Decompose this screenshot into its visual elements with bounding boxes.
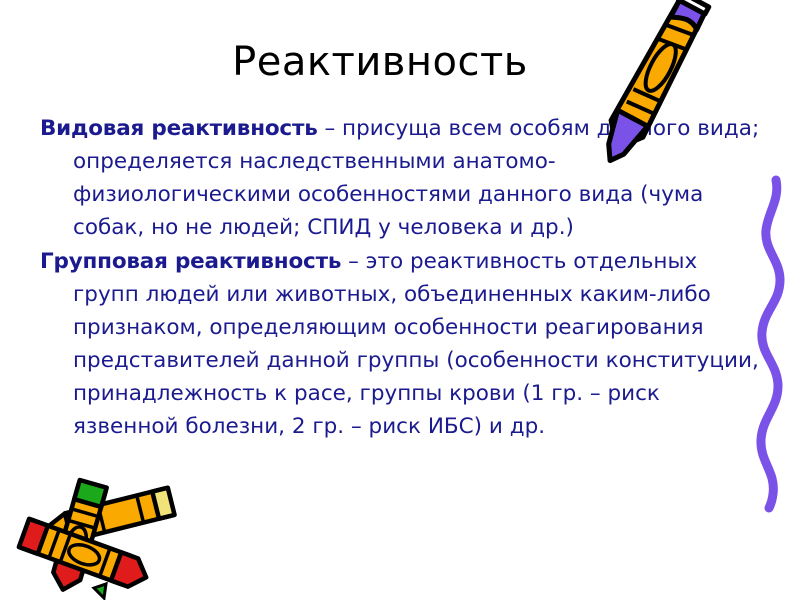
slide: Реактивность Видовая реактивность – прис… (0, 0, 800, 600)
crayon-cluster-bottom-left-icon (8, 468, 198, 600)
paragraph-group-reactivity: Групповая реактивность – это реактивност… (40, 245, 764, 443)
term-species-reactivity: Видовая реактивность (40, 116, 318, 141)
crayon-top-right-icon (650, 0, 790, 194)
term-group-reactivity: Групповая реактивность (40, 249, 341, 274)
definition-group-reactivity: – это реактивность отдельных групп людей… (73, 249, 759, 439)
crayon-squiggle-icon (740, 178, 800, 508)
